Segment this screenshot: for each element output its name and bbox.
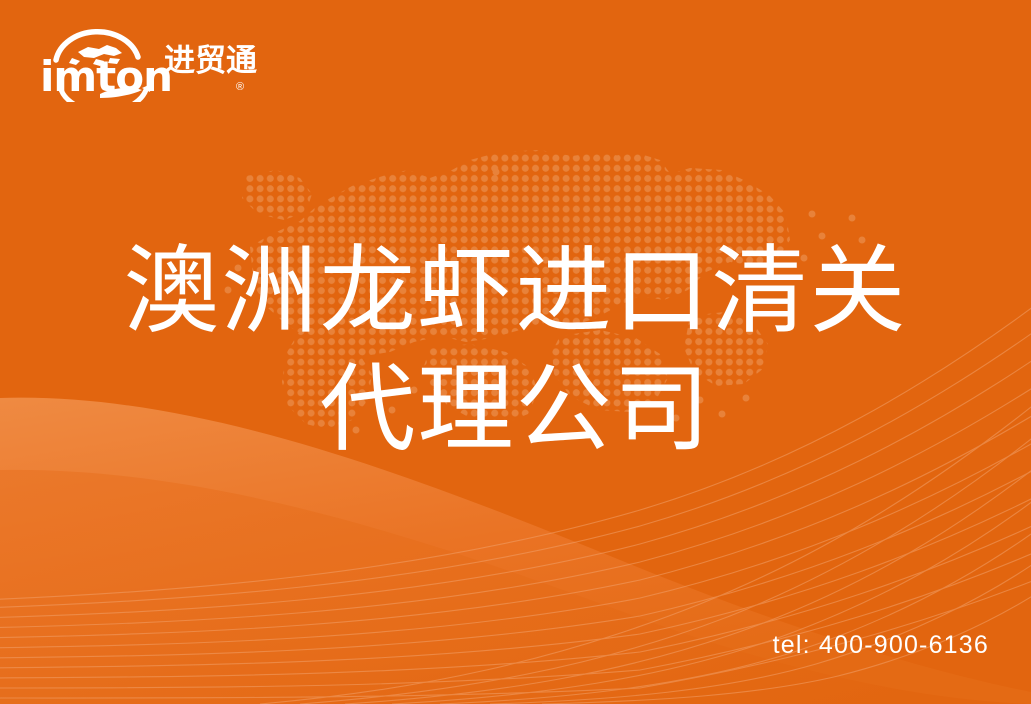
svg-text:imton: imton — [40, 52, 172, 101]
contact-phone[interactable]: tel: 400-900-6136 — [773, 633, 989, 658]
headline-line-2: 代理公司 — [0, 350, 1031, 468]
brand-logo[interactable]: imton 进贸通 ® — [38, 28, 216, 102]
headline-line-1: 澳洲龙虾进口清关 — [0, 232, 1031, 350]
promo-banner: imton 进贸通 ® 澳洲龙虾进口清关 代理公司 tel: 400-900-6… — [0, 0, 1031, 704]
page-title: 澳洲龙虾进口清关 代理公司 — [0, 232, 1031, 468]
logo-chinese-name: 进贸通 — [164, 46, 257, 77]
registered-trademark-icon: ® — [236, 82, 244, 93]
